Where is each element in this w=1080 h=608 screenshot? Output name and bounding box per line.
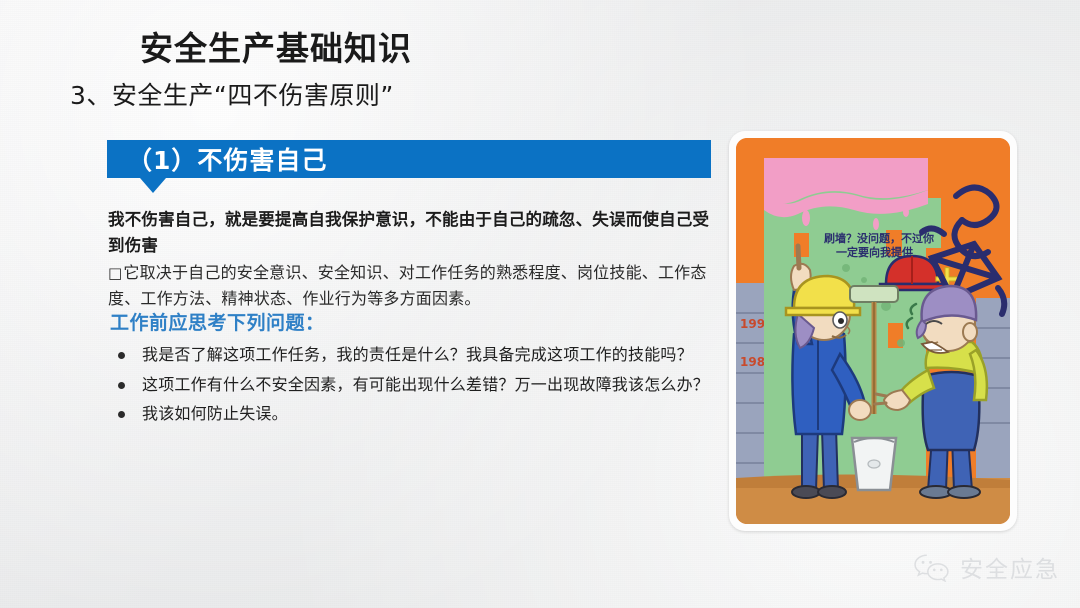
section-banner: （1）不伤害自己 xyxy=(107,140,711,178)
bullet-dot-icon xyxy=(118,411,125,418)
watermark: 安全应急 xyxy=(912,550,1060,584)
list-item: 我该如何防止失误。 xyxy=(112,399,712,429)
banner-label: （1）不伤害自己 xyxy=(127,141,327,177)
list-item: 我是否了解这项工作任务，我的责任是什么？我具备完成这项工作的技能吗？ xyxy=(112,340,712,370)
bullet-dot-icon xyxy=(118,352,125,359)
body-text-block: 我不伤害自己，就是要提高自我保护意识，不能由于自己的疏忽、失误而使自己受到伤害 … xyxy=(108,207,715,311)
square-bullet-text: 它取决于自己的安全意识、安全知识、对工作任务的熟悉程度、岗位技能、工作态度、工作… xyxy=(108,263,707,308)
illustration-svg: 1990 1980 xyxy=(736,138,1010,524)
lead-paragraph: 我不伤害自己，就是要提高自我保护意识，不能由于自己的疏忽、失误而使自己受到伤害 xyxy=(108,207,715,258)
list-item-text: 这项工作有什么不安全因素，有可能出现什么差错？万一出现故障我该怎么办？ xyxy=(142,375,709,394)
slide-canvas: 安全生产基础知识 3、安全生产“四不伤害原则” （1）不伤害自己 我不伤害自己，… xyxy=(0,0,1080,608)
questions-heading: 工作前应思考下列问题： xyxy=(110,308,325,335)
paint-bucket-icon xyxy=(852,438,896,490)
list-item: 这项工作有什么不安全因素，有可能出现什么差错？万一出现故障我该怎么办？ xyxy=(112,370,712,400)
square-bullet-icon: □ xyxy=(108,264,122,282)
page-title: 安全生产基础知识 xyxy=(140,22,412,70)
banner-pointer-triangle xyxy=(140,178,166,193)
questions-list: 我是否了解这项工作任务，我的责任是什么？我具备完成这项工作的技能吗？ 这项工作有… xyxy=(112,340,712,429)
illustration-frame: 1990 1980 xyxy=(729,131,1017,531)
watermark-label: 安全应急 xyxy=(960,550,1060,584)
illustration-cartoon: 1990 1980 xyxy=(736,138,1010,524)
list-item-text: 我该如何防止失误。 xyxy=(142,404,288,423)
speech-line-1: 刷墙？没问题，不过你 xyxy=(824,231,934,245)
list-item-text: 我是否了解这项工作任务，我的责任是什么？我具备完成这项工作的技能吗？ xyxy=(142,345,693,364)
bullet-dot-icon xyxy=(118,382,125,389)
square-bullet-paragraph: □它取决于自己的安全意识、安全知识、对工作任务的熟悉程度、岗位技能、工作态度、工… xyxy=(108,260,715,311)
banner-bar: （1）不伤害自己 xyxy=(107,140,711,178)
wechat-icon xyxy=(912,552,950,582)
section-subtitle: 3、安全生产“四不伤害原则” xyxy=(70,76,394,112)
